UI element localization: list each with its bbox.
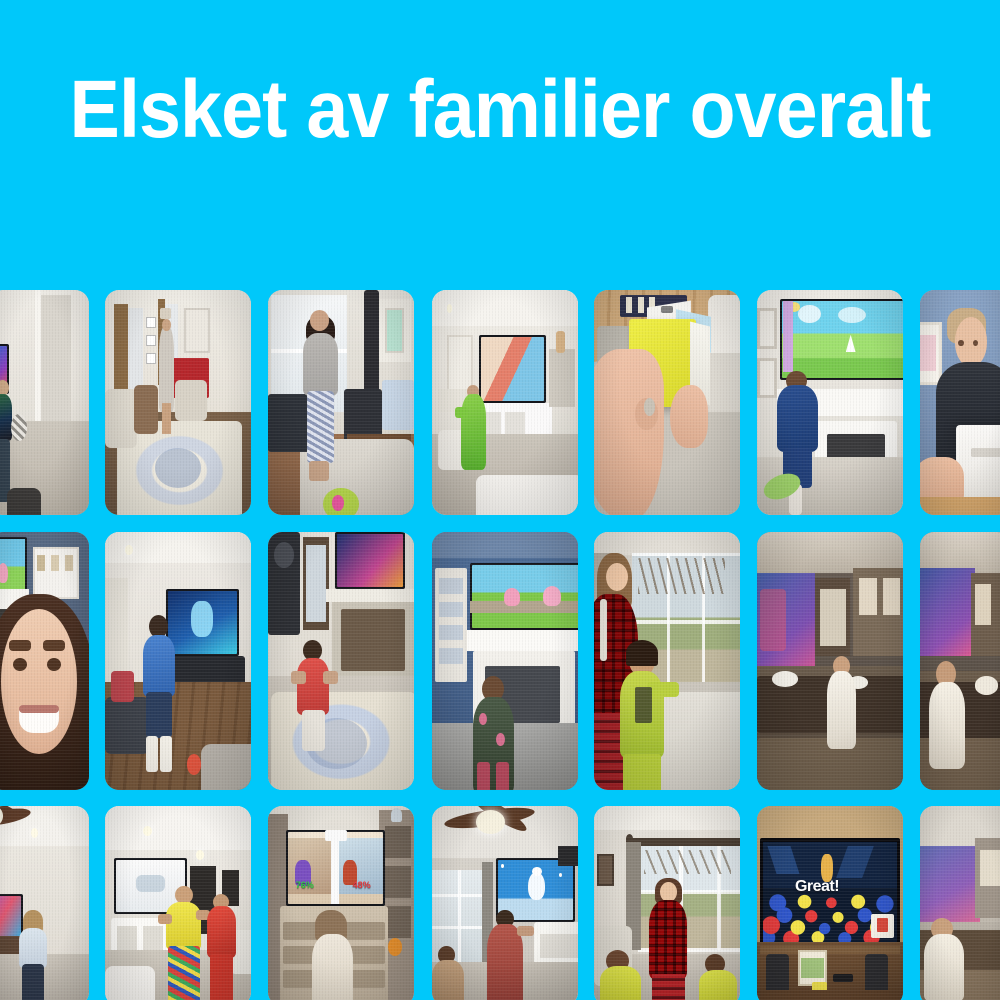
- grid-photo-r3c4[interactable]: [432, 806, 578, 1000]
- grid-photo-r1c2[interactable]: [105, 290, 251, 515]
- grid-photo-r1c5[interactable]: [594, 290, 740, 515]
- grid-photo-r1c6[interactable]: [757, 290, 903, 515]
- page-title: Elsket av familier overalt: [40, 62, 960, 158]
- grid-photo-r3c3[interactable]: 76% 48%: [268, 806, 414, 1000]
- grid-photo-r2c4[interactable]: [432, 532, 578, 790]
- grid-photo-r3c2[interactable]: [105, 806, 251, 1000]
- grid-photo-r2c2[interactable]: [105, 532, 251, 790]
- grid-photo-r2c1[interactable]: [0, 532, 89, 790]
- grid-photo-r3c6[interactable]: Great!: [757, 806, 903, 1000]
- grid-photo-r2c7[interactable]: [920, 532, 1000, 790]
- grid-photo-r2c5[interactable]: [594, 532, 740, 790]
- promo-banner: Elsket av familier overalt: [0, 0, 1000, 1000]
- grid-photo-r1c4[interactable]: [432, 290, 578, 515]
- grid-photo-r3c1[interactable]: [0, 806, 89, 1000]
- grid-photo-r3c5[interactable]: [594, 806, 740, 1000]
- grid-photo-r3c7[interactable]: [920, 806, 1000, 1000]
- grid-photo-r1c3[interactable]: [268, 290, 414, 515]
- grid-photo-r2c3[interactable]: [268, 532, 414, 790]
- grid-photo-r1c7[interactable]: [920, 290, 1000, 515]
- photo-grid: 76% 48%: [0, 290, 1000, 1000]
- grid-photo-r2c6[interactable]: [757, 532, 903, 790]
- grid-photo-r1c1[interactable]: [0, 290, 89, 515]
